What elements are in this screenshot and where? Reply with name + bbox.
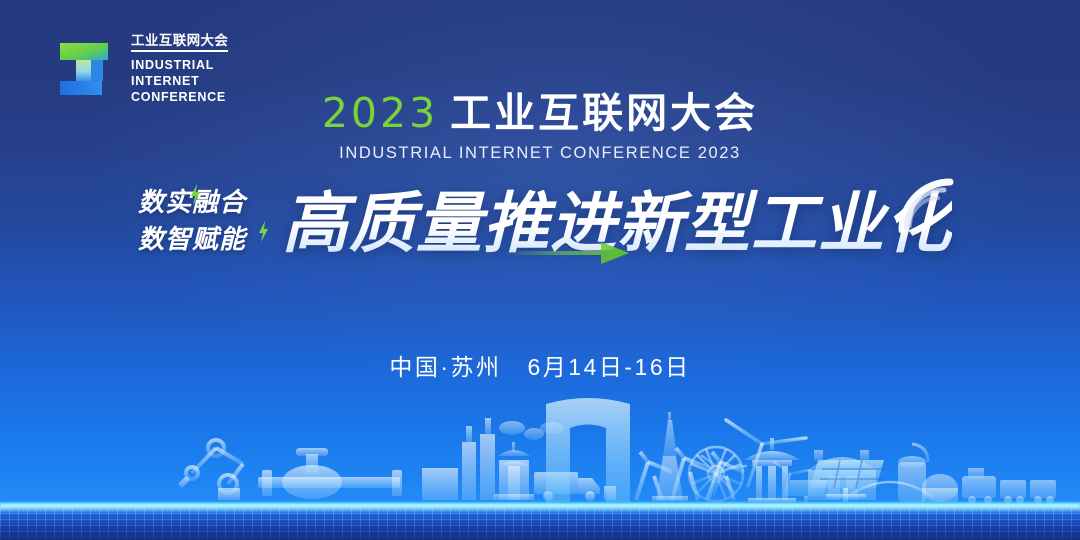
perspective-grid-floor bbox=[0, 507, 1080, 540]
slogan-inner: 数实融合 数智赋能 高质量推进新型工业化 bbox=[130, 178, 950, 283]
logo-english-line-1: INDUSTRIAL bbox=[131, 57, 228, 73]
pipe-valve-icon bbox=[258, 448, 402, 499]
green-arrow-icon bbox=[505, 240, 629, 266]
slogan-block: 数实融合 数智赋能 高质量推进新型工业化 bbox=[0, 178, 1080, 283]
conference-title-block: 2023工业互联网大会 INDUSTRIAL INTERNET CONFEREN… bbox=[0, 92, 1080, 163]
pagoda-icon bbox=[78, 462, 102, 500]
industrial-city-skyline bbox=[0, 376, 1080, 506]
logo-chinese-name: 工业互联网大会 bbox=[131, 34, 228, 52]
logo-english-line-2: INTERNET bbox=[131, 73, 228, 89]
freight-train-icon bbox=[962, 468, 1056, 504]
floor-grid-lines bbox=[0, 507, 1080, 540]
conference-title-english: INDUSTRIAL INTERNET CONFERENCE 2023 bbox=[0, 144, 1080, 163]
conference-title: 2023工业互联网大会 bbox=[0, 92, 1080, 135]
title-year: 2023 bbox=[322, 89, 438, 137]
wifi-signal-icon bbox=[892, 172, 958, 234]
conference-banner: 工业互联网大会 INDUSTRIAL INTERNET CONFERENCE 2… bbox=[0, 0, 1080, 540]
logo-mark-icon bbox=[58, 41, 120, 97]
lightning-bolt-icon bbox=[258, 221, 269, 242]
ferris-wheel-icon bbox=[689, 447, 743, 502]
title-chinese: 工业互联网大会 bbox=[450, 90, 758, 136]
slogan-secondary-line-2: 数智赋能 bbox=[138, 224, 246, 254]
lightning-bolt-icon bbox=[190, 184, 201, 205]
robot-arm-icon bbox=[178, 440, 243, 500]
